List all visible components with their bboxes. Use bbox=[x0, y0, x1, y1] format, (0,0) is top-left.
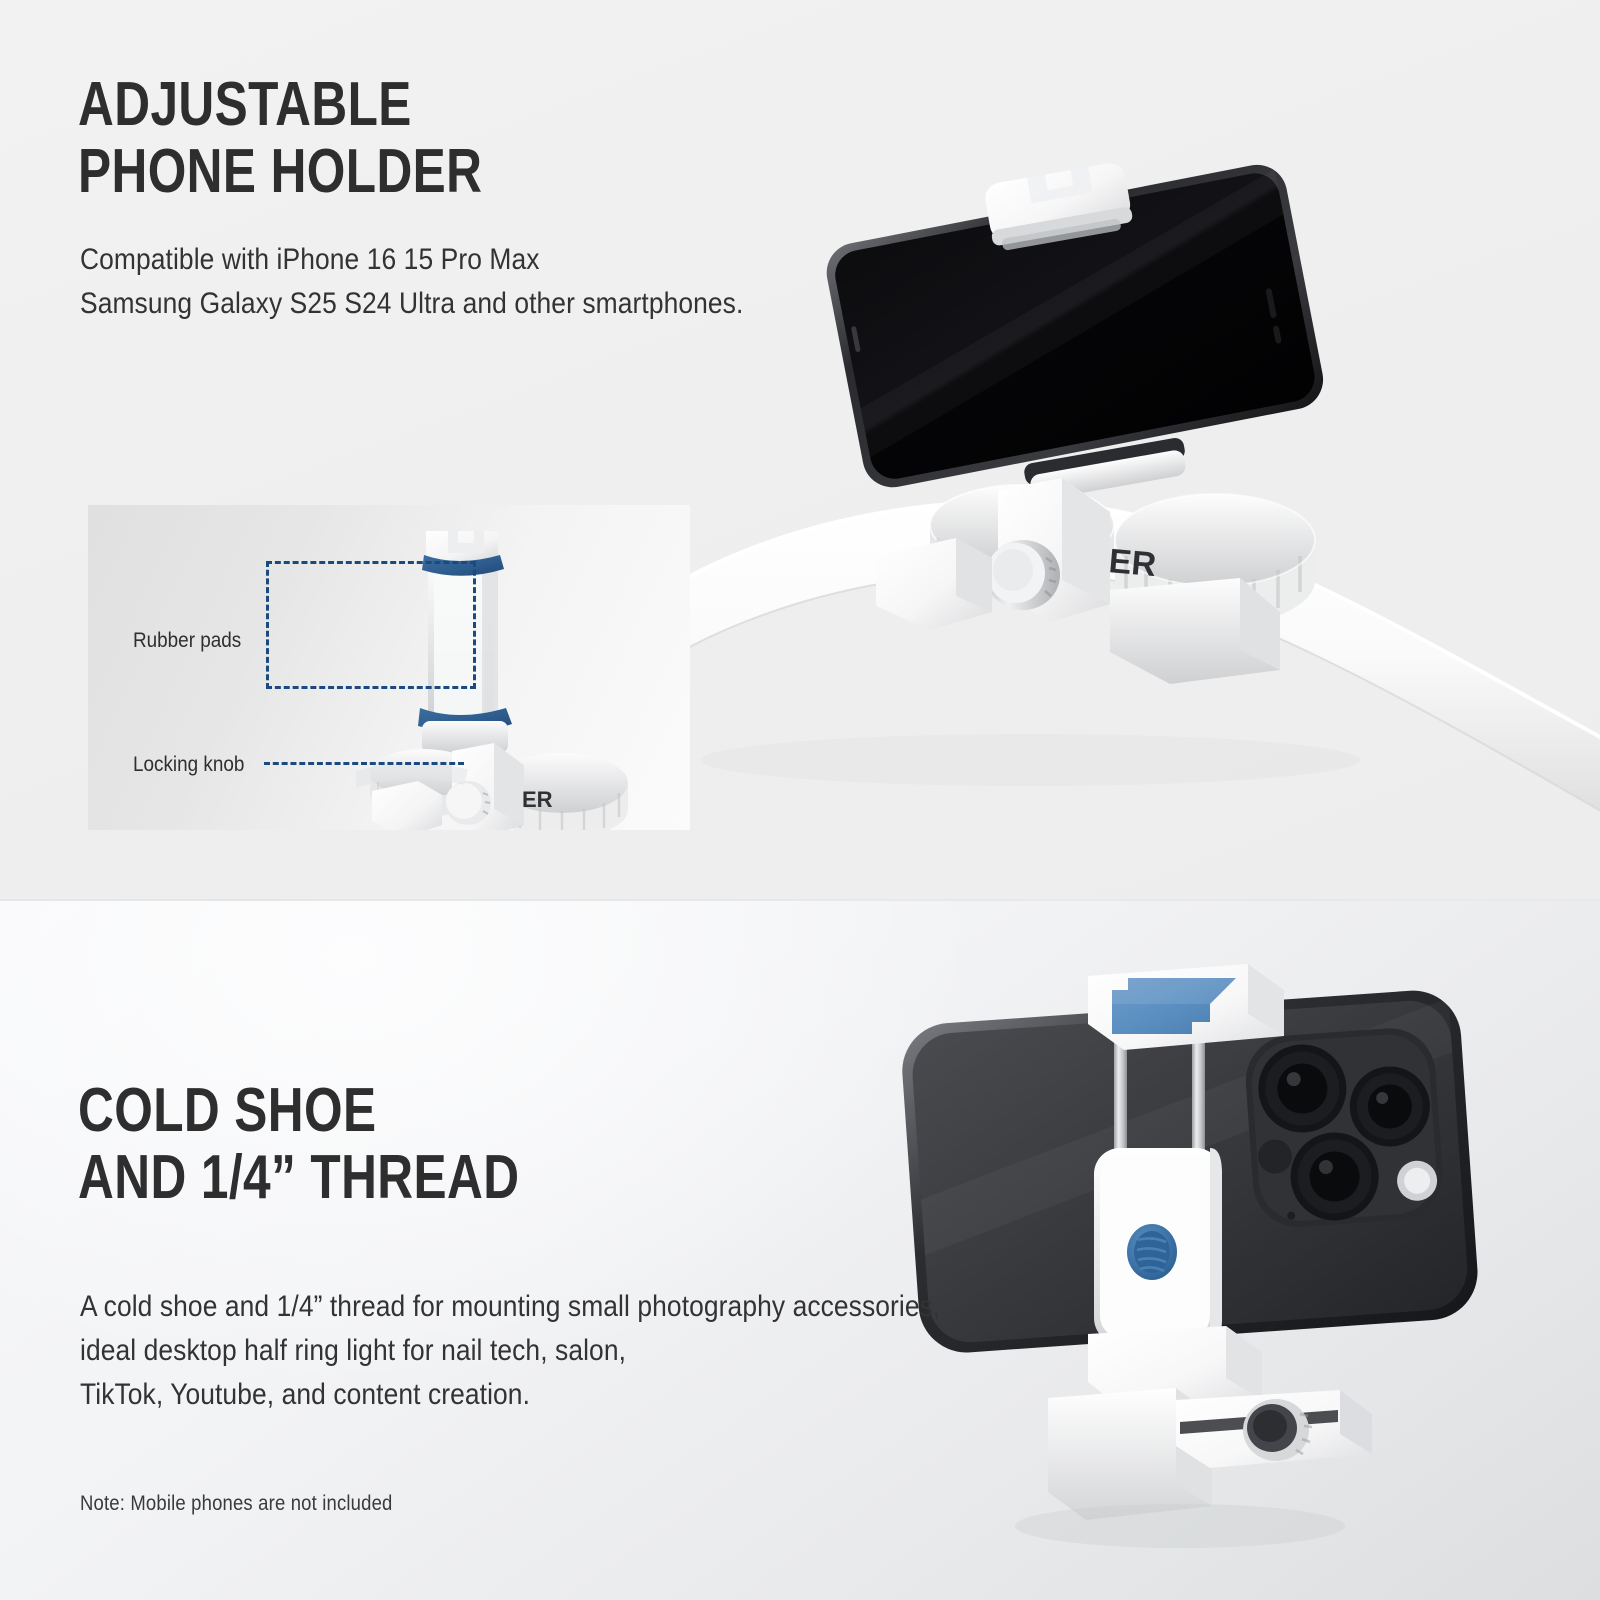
cold-shoe-mount bbox=[1088, 964, 1284, 1050]
camera-module bbox=[1243, 1025, 1446, 1230]
brand-mark-text-inset: ER bbox=[522, 787, 553, 812]
note-text-phones-not-included: Note: Mobile phones are not included bbox=[80, 1492, 392, 1516]
base-bracket bbox=[1048, 1388, 1372, 1520]
phone-clamp-cold-shoe-assembly bbox=[880, 930, 1520, 1570]
section-cold-shoe-and-thread: COLD SHOE AND 1/4” THREAD A cold shoe an… bbox=[0, 900, 1600, 1600]
page-title-adjustable-phone-holder: ADJUSTABLE PHONE HOLDER bbox=[78, 72, 482, 206]
phone-holder-assembly: ER bbox=[810, 160, 1430, 740]
body-text-cold-shoe-and-thread: A cold shoe and 1/4” thread for mounting… bbox=[80, 1285, 940, 1417]
callout-label-locking-knob: Locking knob bbox=[133, 753, 244, 777]
locking-knob-inset bbox=[445, 781, 491, 825]
quarter-inch-thread-socket bbox=[1127, 1224, 1177, 1280]
page-title-cold-shoe-and-thread: COLD SHOE AND 1/4” THREAD bbox=[78, 1078, 519, 1212]
inset-detail-panel: Rubber pads Locking knob bbox=[88, 505, 690, 830]
product-infographic-page: ER Rubber pads Locking knob bbox=[0, 0, 1600, 1600]
locking-knob bbox=[986, 540, 1060, 610]
callout-dashed-box-rubber-pads bbox=[266, 561, 476, 689]
brand-mark-text: ER bbox=[1107, 542, 1157, 584]
body-text-adjustable-phone-holder: Compatible with iPhone 16 15 Pro Max Sam… bbox=[80, 238, 743, 326]
clamp-column bbox=[1094, 1148, 1222, 1344]
callout-dashed-line-locking-knob bbox=[264, 762, 464, 765]
section-adjustable-phone-holder: ER Rubber pads Locking knob bbox=[0, 0, 1600, 900]
callout-label-rubber-pads: Rubber pads bbox=[133, 629, 241, 653]
section-divider bbox=[0, 899, 1600, 901]
